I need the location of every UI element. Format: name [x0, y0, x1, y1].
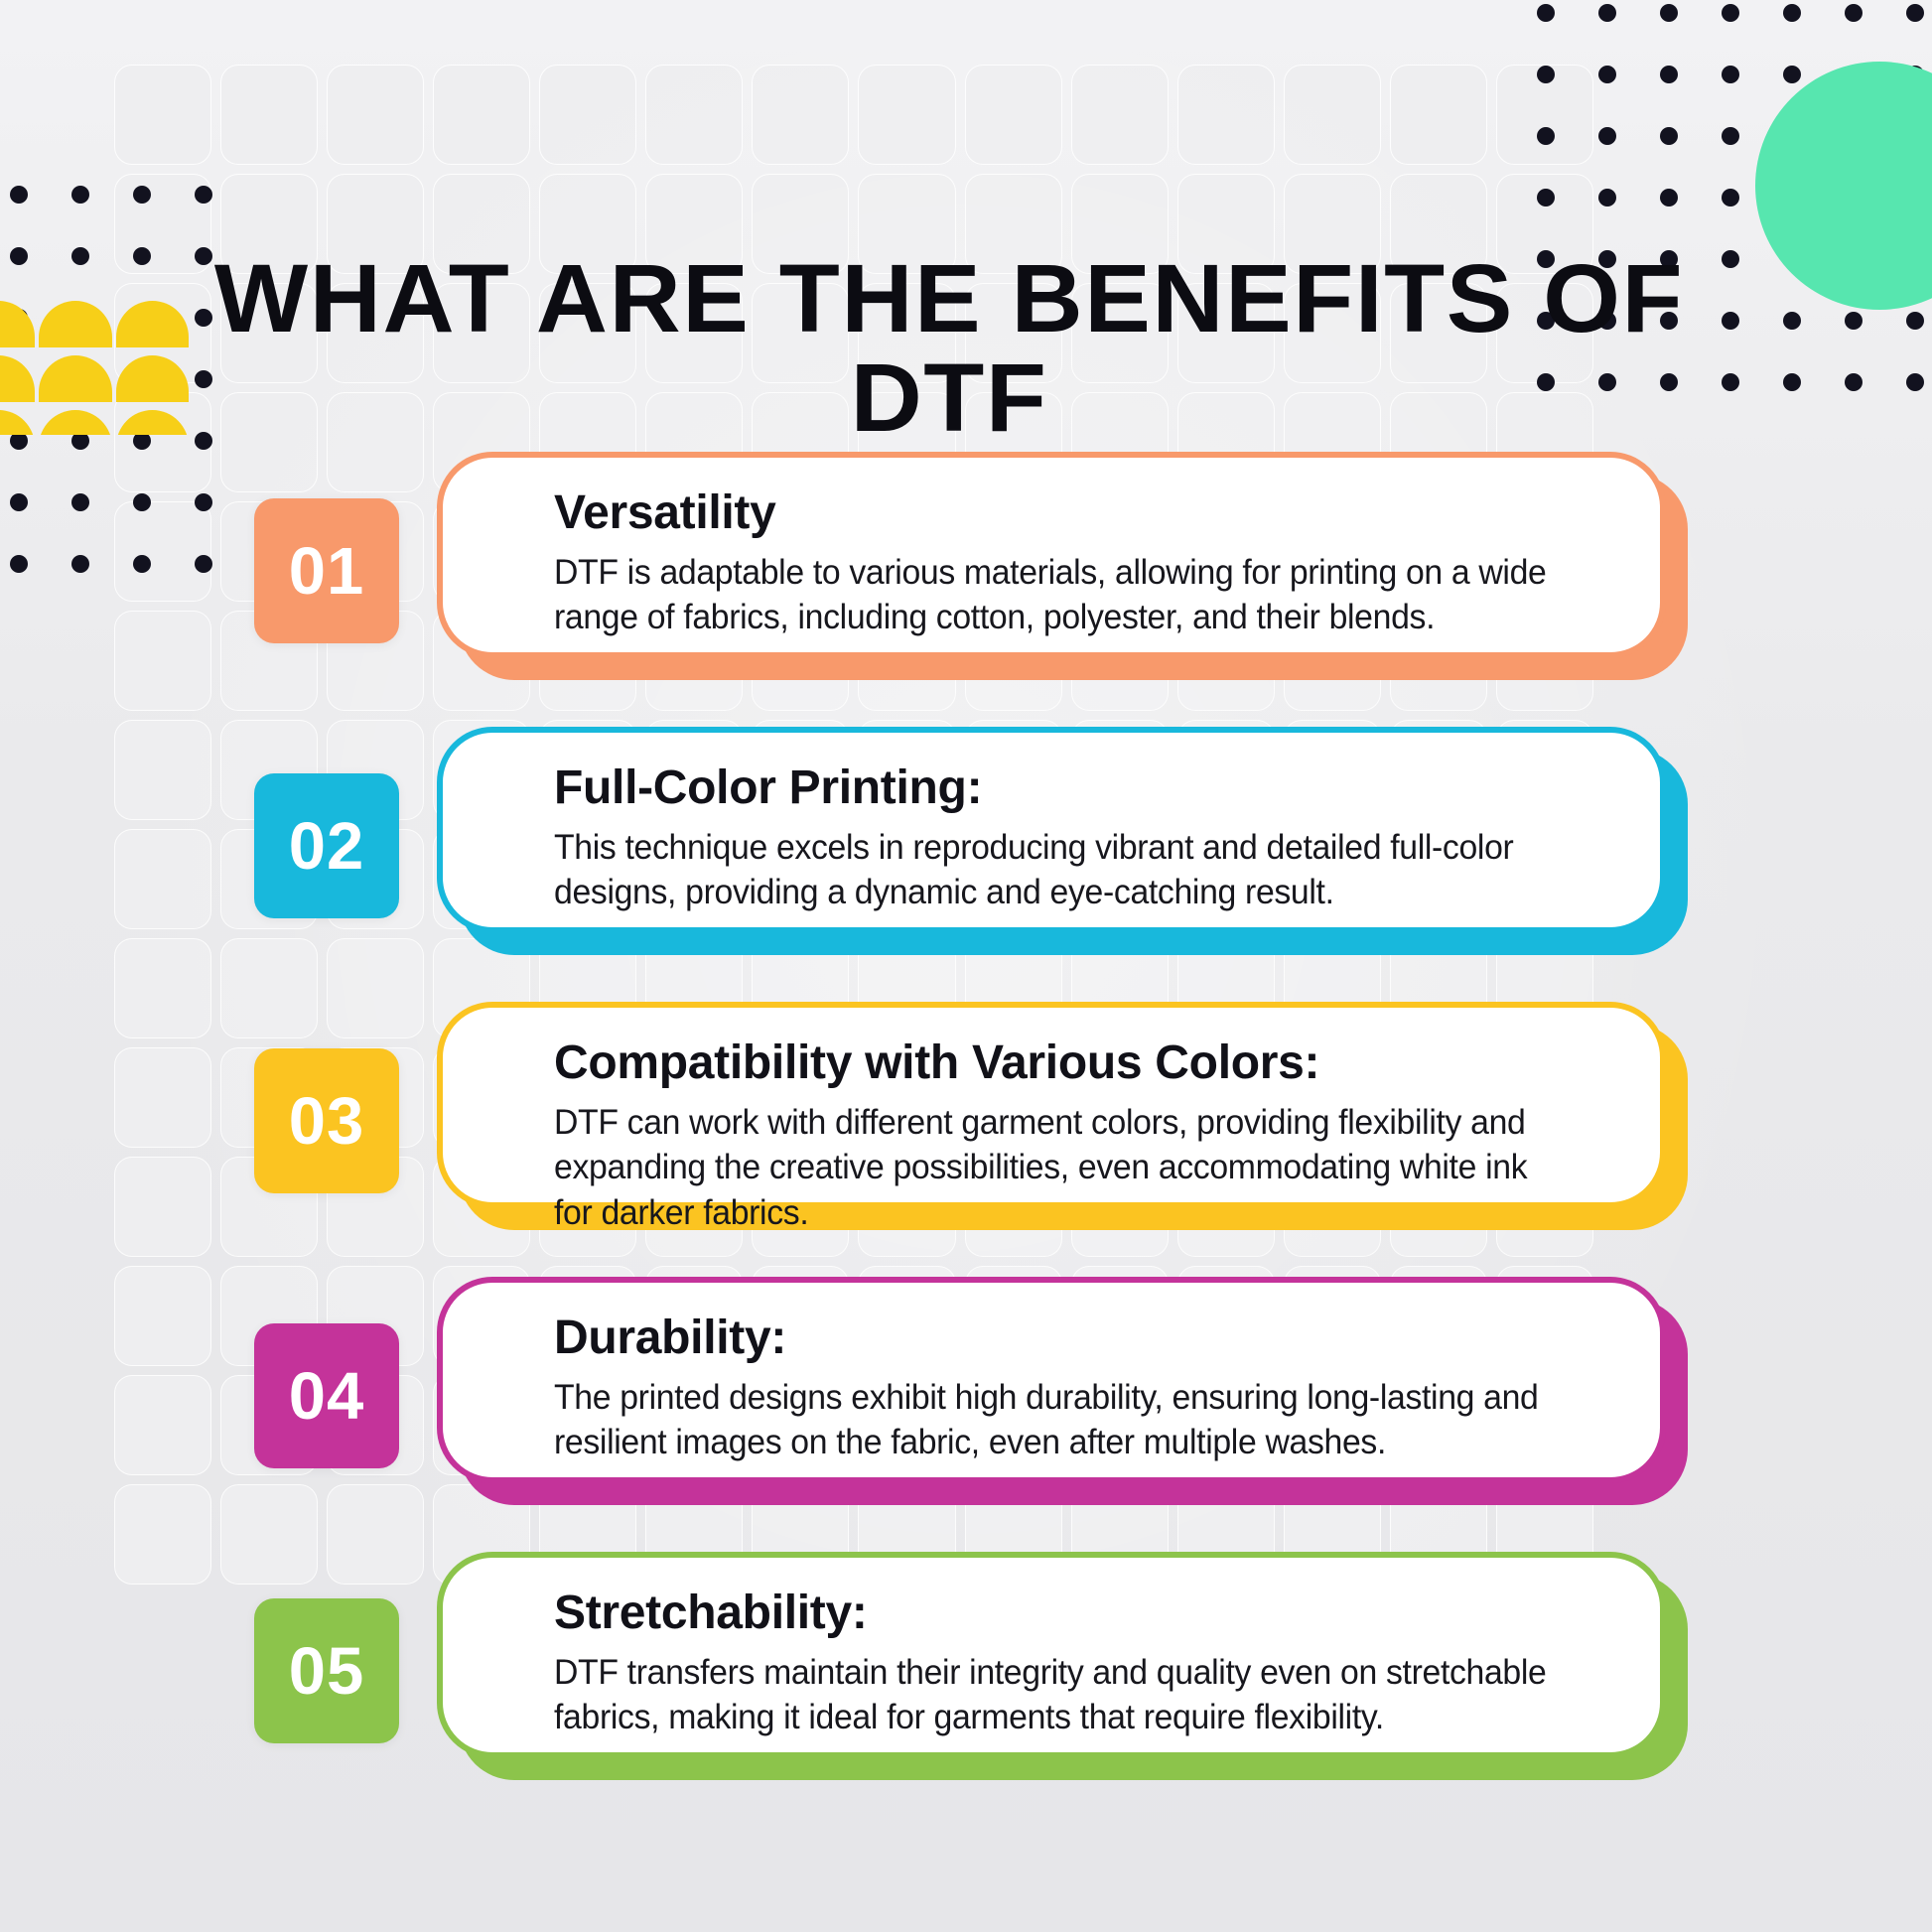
benefit-heading: Stretchability: — [554, 1587, 1600, 1640]
decorative-dot — [1722, 189, 1739, 207]
yellow-semicircle-row — [0, 410, 191, 435]
decorative-dot — [10, 370, 28, 388]
decorative-dot — [1845, 66, 1863, 83]
background-grid-cell — [859, 66, 954, 164]
yellow-semicircle-row — [0, 355, 191, 410]
benefits-list: 01VersatilityDTF is adaptable to various… — [0, 452, 1932, 1827]
benefit-card[interactable]: VersatilityDTF is adaptable to various m… — [437, 452, 1666, 658]
benefit-row: 02Full-Color Printing:This technique exc… — [0, 727, 1932, 990]
decorative-dot — [133, 370, 151, 388]
decorative-dot — [1845, 373, 1863, 391]
benefit-body-text: The printed designs exhibit high durabil… — [554, 1375, 1564, 1465]
decorative-dot — [1537, 189, 1555, 207]
yellow-semicircle — [39, 410, 111, 435]
yellow-semicircle-row — [0, 301, 191, 355]
benefit-body-text: DTF can work with different garment colo… — [554, 1100, 1564, 1236]
yellow-semicircle — [0, 410, 35, 435]
background-grid-cell — [1285, 66, 1380, 164]
decorative-dot — [1660, 4, 1678, 22]
background-grid-cell — [1178, 66, 1274, 164]
background-grid-row — [109, 60, 1598, 169]
benefit-row: 05Stretchability:DTF transfers maintain … — [0, 1552, 1932, 1815]
decorative-dot — [1845, 189, 1863, 207]
decorative-dot — [1722, 66, 1739, 83]
benefit-number-label: 04 — [289, 1358, 365, 1435]
benefit-card-wrapper: Compatibility with Various Colors:DTF ca… — [437, 1002, 1666, 1216]
background-grid-cell — [753, 66, 848, 164]
decorative-dot — [1906, 66, 1924, 83]
benefit-number-label: 05 — [289, 1633, 365, 1710]
benefit-card-wrapper: Durability:The printed designs exhibit h… — [437, 1277, 1666, 1491]
benefit-row: 04Durability:The printed designs exhibit… — [0, 1277, 1932, 1540]
background-grid-cell — [646, 66, 742, 164]
decorative-dot — [1845, 250, 1863, 268]
decorative-dot — [10, 247, 28, 265]
benefit-row: 03Compatibility with Various Colors:DTF … — [0, 1002, 1932, 1265]
decorative-dot — [1722, 127, 1739, 145]
background-grid-cell — [434, 66, 529, 164]
benefit-number-badge: 05 — [254, 1598, 399, 1743]
yellow-semicircle — [0, 301, 35, 347]
decorative-dot — [1783, 189, 1801, 207]
yellow-semicircle — [0, 355, 35, 402]
benefit-number-badge: 01 — [254, 498, 399, 643]
decorative-dot — [1906, 373, 1924, 391]
decorative-dot — [10, 186, 28, 204]
decorative-dot — [1722, 4, 1739, 22]
background-grid-cell — [540, 66, 635, 164]
mint-circle-decoration — [1755, 62, 1932, 310]
decorative-dot — [1783, 4, 1801, 22]
decorative-dot — [10, 432, 28, 450]
decorative-dot — [133, 309, 151, 327]
benefit-heading: Durability: — [554, 1312, 1600, 1365]
background-grid-cell — [1072, 66, 1168, 164]
decorative-dot — [1537, 4, 1555, 22]
decorative-dot — [1845, 4, 1863, 22]
dot-grid-row — [1515, 105, 1932, 167]
dot-grid-row — [0, 164, 234, 225]
yellow-semicircle-decoration — [0, 301, 191, 435]
decorative-dot — [1906, 312, 1924, 330]
benefit-number-label: 02 — [289, 808, 365, 885]
decorative-dot — [133, 247, 151, 265]
decorative-dot — [71, 370, 89, 388]
background-grid-cell — [221, 66, 317, 164]
decorative-dot — [1783, 127, 1801, 145]
benefit-card[interactable]: Compatibility with Various Colors:DTF ca… — [437, 1002, 1666, 1208]
decorative-dot — [1537, 66, 1555, 83]
decorative-dot — [195, 186, 212, 204]
decorative-dot — [1845, 127, 1863, 145]
benefit-body-text: DTF transfers maintain their integrity a… — [554, 1650, 1564, 1740]
decorative-dot — [1906, 189, 1924, 207]
benefit-card[interactable]: Stretchability:DTF transfers maintain th… — [437, 1552, 1666, 1758]
background-grid-cell — [1391, 66, 1486, 164]
benefit-heading: Versatility — [554, 487, 1600, 540]
decorative-dot — [71, 247, 89, 265]
benefit-card[interactable]: Full-Color Printing:This technique excel… — [437, 727, 1666, 933]
decorative-dot — [1660, 127, 1678, 145]
decorative-dot — [10, 309, 28, 327]
benefit-number-badge: 04 — [254, 1323, 399, 1468]
decorative-dot — [1906, 127, 1924, 145]
decorative-dot — [1660, 66, 1678, 83]
decorative-dot — [1660, 189, 1678, 207]
decorative-dot — [1537, 127, 1555, 145]
decorative-dot — [1598, 127, 1616, 145]
benefit-heading: Compatibility with Various Colors: — [554, 1037, 1600, 1090]
benefit-number-badge: 03 — [254, 1048, 399, 1193]
decorative-dot — [1598, 4, 1616, 22]
decorative-dot — [133, 432, 151, 450]
decorative-dot — [71, 309, 89, 327]
benefit-body-text: DTF is adaptable to various materials, a… — [554, 550, 1564, 640]
benefit-row: 01VersatilityDTF is adaptable to various… — [0, 452, 1932, 715]
decorative-dot — [133, 186, 151, 204]
benefit-number-badge: 02 — [254, 773, 399, 918]
decorative-dot — [1783, 373, 1801, 391]
decorative-dot — [71, 432, 89, 450]
decorative-dot — [1598, 66, 1616, 83]
decorative-dot — [71, 186, 89, 204]
background-grid-cell — [115, 66, 210, 164]
decorative-dot — [1783, 312, 1801, 330]
yellow-semicircle — [39, 355, 111, 402]
dot-grid-row — [1515, 167, 1932, 228]
decorative-dot — [1598, 189, 1616, 207]
decorative-dot — [1906, 4, 1924, 22]
benefit-card-wrapper: Full-Color Printing:This technique excel… — [437, 727, 1666, 941]
yellow-semicircle — [39, 301, 111, 347]
decorative-dot — [1783, 66, 1801, 83]
infographic-canvas: WHAT ARE THE BENEFITS OF DTF TRANSFERS? … — [0, 0, 1932, 1932]
benefit-heading: Full-Color Printing: — [554, 762, 1600, 815]
dot-grid-row — [1515, 44, 1932, 105]
background-grid-cell — [328, 66, 423, 164]
benefit-card-wrapper: VersatilityDTF is adaptable to various m… — [437, 452, 1666, 666]
benefit-card[interactable]: Durability:The printed designs exhibit h… — [437, 1277, 1666, 1483]
background-grid-cell — [966, 66, 1061, 164]
dot-grid-row — [1515, 0, 1932, 44]
background-grid-cell — [1497, 66, 1592, 164]
decorative-dot — [1845, 312, 1863, 330]
benefit-body-text: This technique excels in reproducing vib… — [554, 825, 1564, 915]
benefit-number-label: 01 — [289, 533, 365, 610]
decorative-dot — [1906, 250, 1924, 268]
benefit-card-wrapper: Stretchability:DTF transfers maintain th… — [437, 1552, 1666, 1766]
decorative-dot — [1783, 250, 1801, 268]
page-title-line-1: WHAT ARE THE BENEFITS OF DTF — [214, 244, 1684, 452]
benefit-number-label: 03 — [289, 1083, 365, 1160]
